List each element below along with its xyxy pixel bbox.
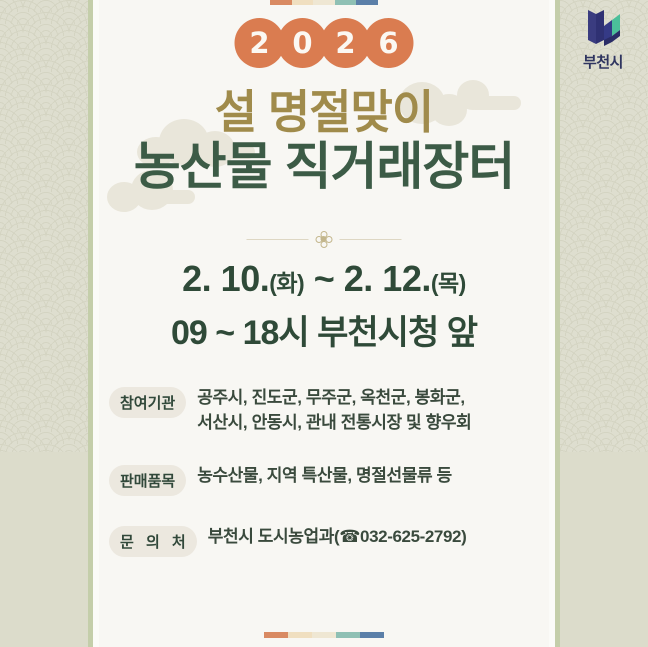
info-label-items: 판매품목 xyxy=(109,465,186,496)
info-value-participants: 공주시, 진도군, 무주군, 옥천군, 봉화군, 서산시, 안동시, 관내 전통… xyxy=(197,385,471,435)
info-value-contact: 부천시 도시농업과(☎032-625-2792) xyxy=(208,524,467,549)
divider-line-left xyxy=(247,239,309,240)
stripe-segment-3 xyxy=(313,0,335,5)
bottom-stripe-segment-2 xyxy=(288,632,312,638)
event-date-range: 2. 10.(화) ~ 2. 12.(목) xyxy=(99,258,549,300)
date-start-weekday: (화) xyxy=(269,270,304,296)
stripe-segment-2 xyxy=(292,0,314,5)
date-separator: ~ xyxy=(314,258,335,299)
divider-ornament xyxy=(247,231,402,248)
stripe-segment-1 xyxy=(270,0,292,5)
top-color-stripe xyxy=(270,0,378,5)
info-label-participants: 참여기관 xyxy=(109,387,186,418)
wave-pattern-left xyxy=(0,0,88,452)
divider-line-right xyxy=(340,239,402,240)
bottom-stripe-segment-4 xyxy=(336,632,360,638)
bottom-stripe-segment-3 xyxy=(312,632,336,638)
stripe-segment-4 xyxy=(335,0,357,5)
info-section: 참여기관 공주시, 진도군, 무주군, 옥천군, 봉화군, 서산시, 안동시, … xyxy=(109,385,545,557)
title-line-2: 농산물 직거래장터 xyxy=(99,140,549,194)
panel-divider-line-right xyxy=(555,0,560,647)
bottom-stripe-segment-5 xyxy=(360,632,384,638)
participants-line-2: 서산시, 안동시, 관내 전통시장 및 향우회 xyxy=(197,410,471,435)
info-value-items: 농수산물, 지역 특산물, 명절선물류 등 xyxy=(197,463,452,488)
main-content-column: 2 0 2 6 설 명절맞이 농산물 직거래장터 2. 10.(화) ~ 2. … xyxy=(99,0,549,647)
bucheon-logo-text: 부천시 xyxy=(572,51,634,72)
info-row-items: 판매품목 농수산물, 지역 특산물, 명절선물류 등 xyxy=(109,463,545,496)
date-end: 2. 12. xyxy=(344,258,431,299)
event-time-and-place: 09 ~ 18시 부천시청 앞 xyxy=(99,305,549,354)
info-row-participants: 참여기관 공주시, 진도군, 무주군, 옥천군, 봉화군, 서산시, 안동시, … xyxy=(109,385,545,435)
bucheon-city-logo: 부천시 xyxy=(572,6,634,72)
date-end-weekday: (목) xyxy=(431,270,466,296)
items-line-1: 농수산물, 지역 특산물, 명절선물류 등 xyxy=(197,466,452,485)
bottom-stripe-segment-1 xyxy=(264,632,288,638)
solid-panel-left xyxy=(0,452,88,647)
left-decorative-panel xyxy=(0,0,88,647)
flower-ornament-icon xyxy=(316,231,333,248)
contact-line-1: 부천시 도시농업과(☎032-625-2792) xyxy=(208,527,467,546)
date-start: 2. 10. xyxy=(182,258,269,299)
info-row-contact: 문 의 처 부천시 도시농업과(☎032-625-2792) xyxy=(109,524,545,557)
bucheon-logo-mark-icon xyxy=(580,6,626,48)
bottom-color-stripe xyxy=(264,632,384,638)
info-label-contact: 문 의 처 xyxy=(109,526,197,557)
title-line-1: 설 명절맞이 xyxy=(99,88,549,136)
year-badge: 2 0 2 6 xyxy=(235,18,414,68)
solid-panel-right xyxy=(560,452,648,647)
poster-root: 2 0 2 6 설 명절맞이 농산물 직거래장터 2. 10.(화) ~ 2. … xyxy=(0,0,648,647)
stripe-segment-5 xyxy=(356,0,378,5)
panel-gap-right xyxy=(549,0,555,647)
year-digit-4: 6 xyxy=(364,18,414,68)
right-decorative-panel xyxy=(560,0,648,647)
participants-line-1: 공주시, 진도군, 무주군, 옥천군, 봉화군, xyxy=(197,388,465,407)
